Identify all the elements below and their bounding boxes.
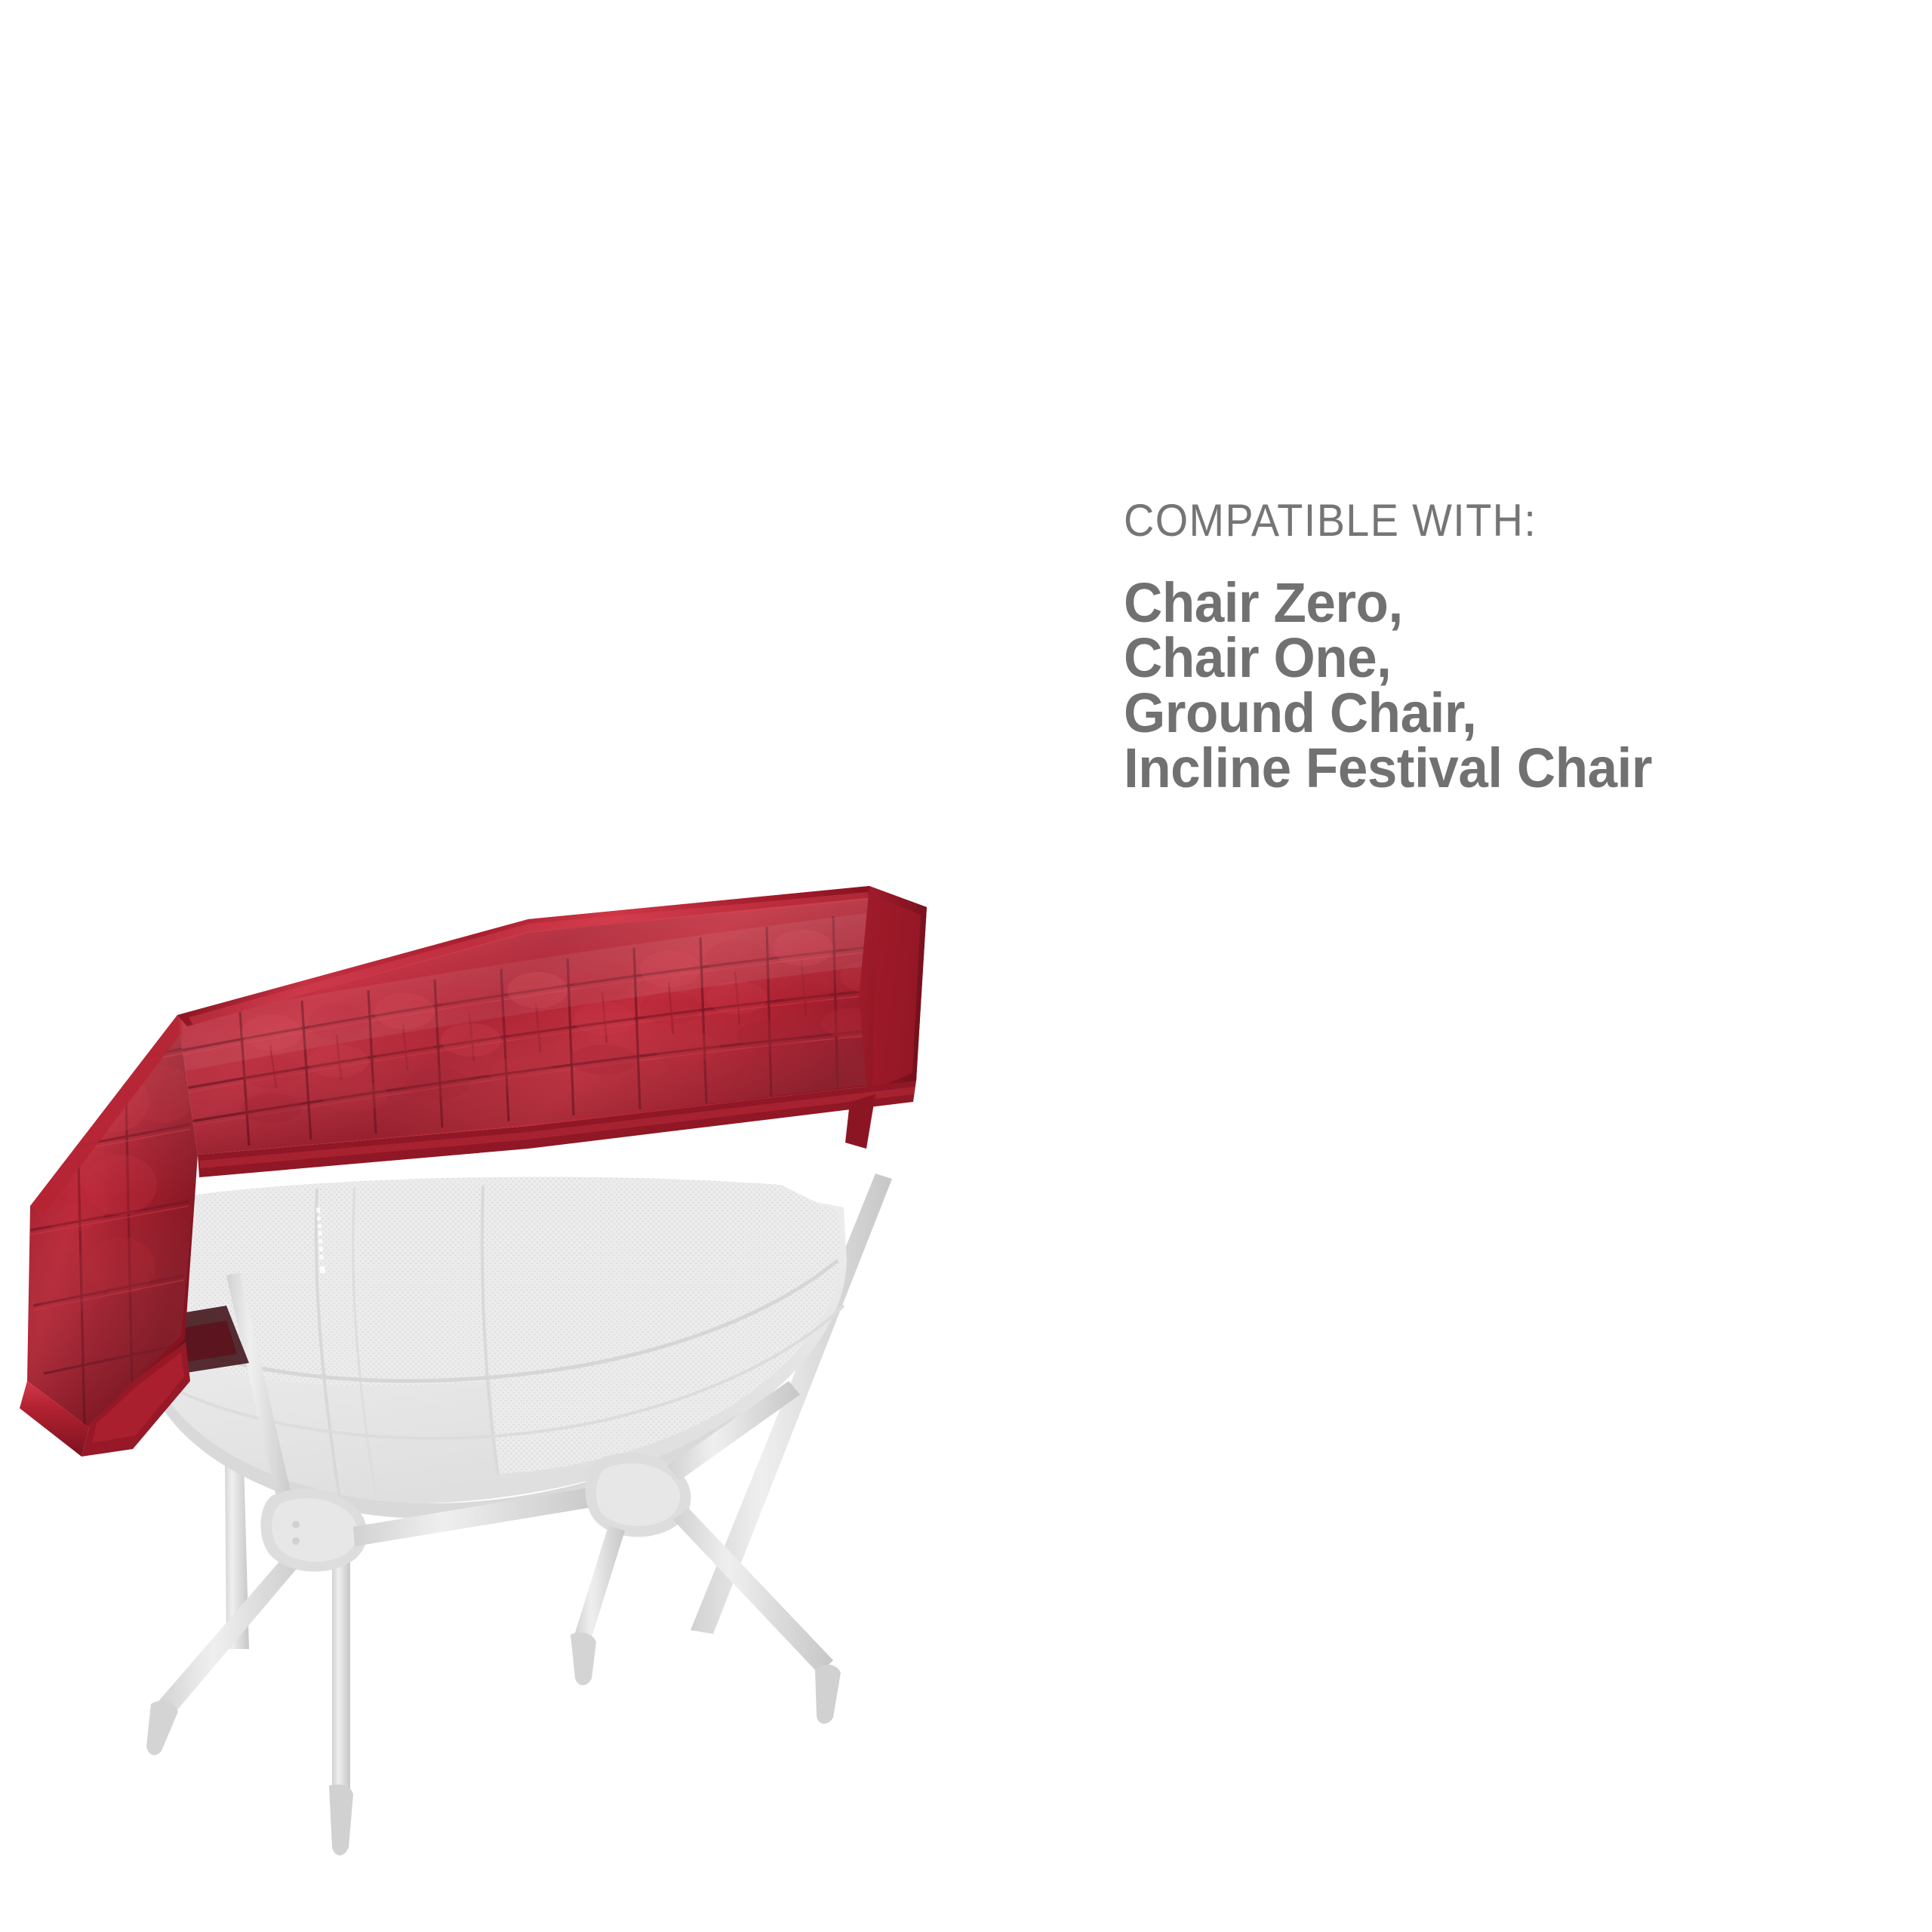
compatible-chair-item: Incline Festival Chair <box>1124 740 1776 795</box>
chair-foot-right-mid <box>571 1632 596 1685</box>
compatible-chair-item: Chair Zero, <box>1124 575 1776 630</box>
chair-seat-warmer-photo <box>0 853 1011 1932</box>
compatibility-callout: COMPATIBLE WITH: Chair Zero, Chair One, … <box>1124 498 1803 795</box>
ghost-chair-frame <box>146 1155 892 1856</box>
chair-leg-right-out <box>574 1526 625 1642</box>
chair-foot-right-front <box>815 1665 841 1724</box>
compatible-with-heading: COMPATIBLE WITH: <box>1124 498 1755 543</box>
chair-foot-left-rear <box>146 1701 178 1755</box>
cover-right-tail <box>845 1094 875 1149</box>
chair-leg-left-front-long <box>332 1558 350 1789</box>
compatible-chair-item: Ground Chair, <box>1124 685 1776 740</box>
compatible-chair-list: Chair Zero, Chair One, Ground Chair, Inc… <box>1124 575 1803 795</box>
chair-leg-right-front <box>673 1508 833 1674</box>
compatible-chair-item: Chair One, <box>1124 630 1776 685</box>
chair-foot-left-front <box>329 1785 353 1856</box>
product-image-canvas: COMPATIBLE WITH: Chair Zero, Chair One, … <box>0 0 1932 1932</box>
